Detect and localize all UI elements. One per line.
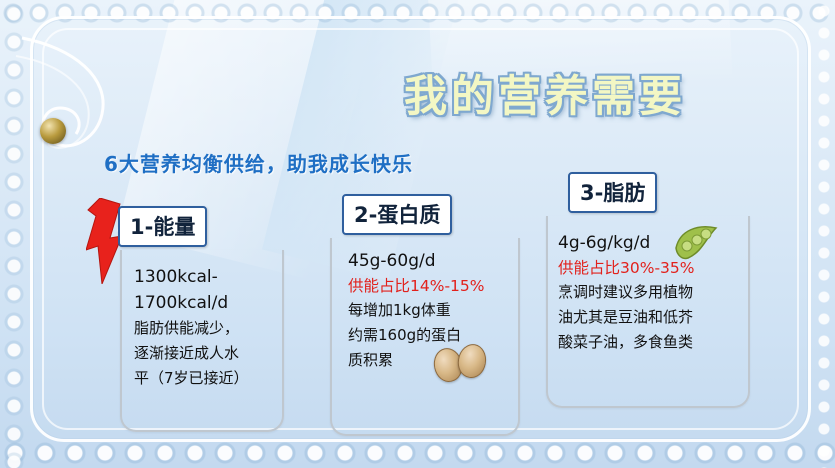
gold-knot-icon <box>40 118 66 144</box>
text-line: 45g-60g/d <box>348 248 485 274</box>
page-subtitle: 6大营养均衡供给，助我成长快乐 <box>104 148 413 177</box>
slide-canvas: 我的营养需要 6大营养均衡供给，助我成长快乐 1-能量 1300kcal- 17… <box>0 0 835 468</box>
text-line: 平（7岁已接近） <box>134 366 249 391</box>
column-label-chip: 1-能量 <box>118 206 207 247</box>
column-label-chip: 3-脂肪 <box>568 172 657 213</box>
nuts-image <box>434 344 490 382</box>
text-line: 逐渐接近成人水 <box>134 341 249 366</box>
text-line: 油尤其是豆油和低芥 <box>558 305 695 330</box>
lace-border-left <box>0 0 28 468</box>
text-line: 1300kcal- <box>134 264 249 290</box>
text-line: 1700kcal/d <box>134 290 249 316</box>
lace-border-bottom <box>0 438 835 468</box>
text-line: 脂肪供能减少， <box>134 316 249 341</box>
column-text-block: 1300kcal- 1700kcal/d 脂肪供能减少， 逐渐接近成人水 平（7… <box>134 264 249 391</box>
text-line: 烹调时建议多用植物 <box>558 280 695 305</box>
page-title: 我的营养需要 <box>404 62 686 124</box>
lace-border-right <box>813 0 835 468</box>
text-line: 每增加1kg体重 <box>348 298 485 323</box>
pea-pod-image <box>672 222 720 262</box>
nutrition-column-protein: 2-蛋白质 45g-60g/d 供能占比14%-15% 每增加1kg体重 约需1… <box>342 194 452 235</box>
nutrition-column-energy: 1-能量 1300kcal- 1700kcal/d 脂肪供能减少， 逐渐接近成人… <box>118 206 207 247</box>
text-line: 酸菜子油，多食鱼类 <box>558 330 695 355</box>
column-label-chip: 2-蛋白质 <box>342 194 452 235</box>
nutrition-column-fat: 3-脂肪 4g-6g/kg/d 供能占比30%-35% 烹调时建议多用植物 油尤… <box>568 172 657 213</box>
text-line-highlight: 供能占比14%-15% <box>348 274 485 298</box>
